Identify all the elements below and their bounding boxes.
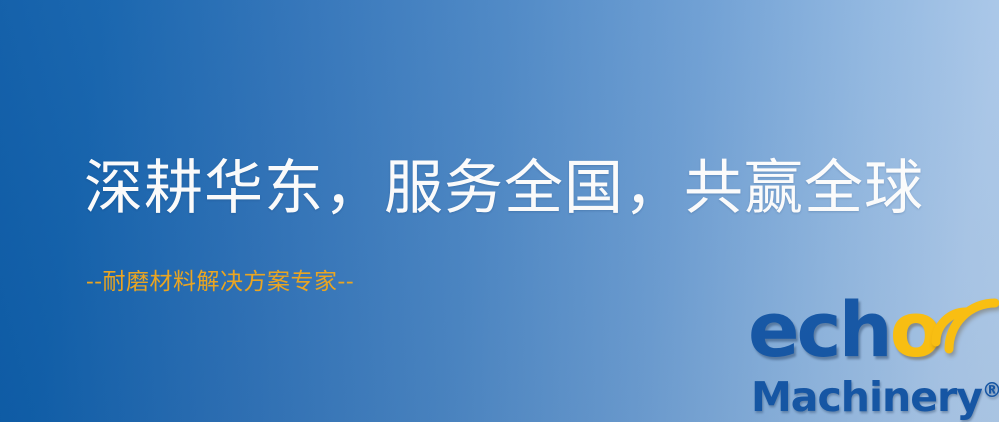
banner-headline: 深耕华东，服务全国，共赢全球: [84, 152, 924, 224]
registered-trademark-icon: ®: [982, 378, 999, 402]
logo-wordmark-echo: ech: [748, 285, 890, 374]
logo-subtext-label: Machinery: [751, 373, 982, 421]
logo-subtext: Machinery®: [751, 368, 999, 419]
signal-waves-icon: [930, 292, 999, 356]
hero-banner: 深耕华东，服务全国，共赢全球 --耐磨材料解决方案专家-- echo Machi…: [0, 0, 999, 422]
banner-subline: --耐磨材料解决方案专家--: [86, 267, 354, 297]
logo-wordmark: echo: [748, 292, 939, 368]
echo-machinery-logo[interactable]: echo Machinery®: [748, 296, 996, 420]
